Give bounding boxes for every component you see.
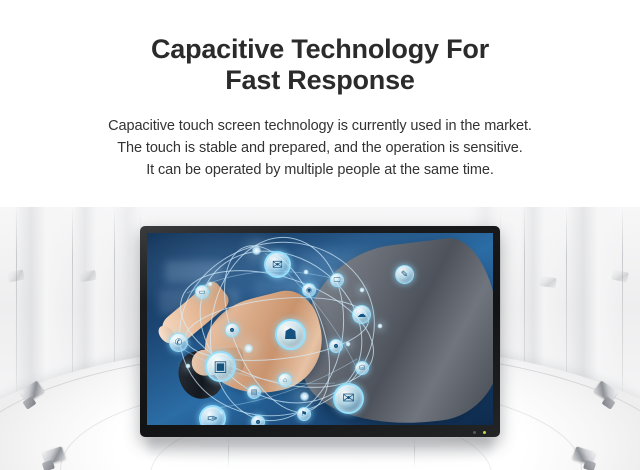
- user-left-glyph: ☻: [228, 327, 235, 334]
- home-mid-node-icon[interactable]: ⌂: [278, 373, 292, 387]
- text-section: Capacitive Technology For Fast Response …: [0, 0, 640, 207]
- user-right-node-icon[interactable]: ☻: [329, 339, 343, 353]
- phone-left-node-icon[interactable]: ✆: [169, 333, 188, 352]
- globe-small-glyph: ◉: [306, 287, 312, 294]
- chat-bottom-node-icon[interactable]: ✑: [199, 405, 226, 425]
- spotlight-icon: [539, 276, 556, 288]
- flag-bottom-glyph: ⚑: [301, 411, 307, 418]
- monitor-left-glyph: ▭: [199, 289, 206, 296]
- home-mid-glyph: ⌂: [283, 377, 287, 384]
- description-text: Capacitive touch screen technology is cu…: [0, 96, 640, 181]
- mail-top-node-icon[interactable]: ✉: [264, 251, 291, 278]
- description-line-1: Capacitive touch screen technology is cu…: [0, 115, 640, 137]
- mail-front-glyph: ✉: [342, 391, 355, 406]
- pencil-far-glyph: ✎: [401, 270, 409, 279]
- person-center-node-icon[interactable]: ☗: [275, 319, 306, 350]
- light-spark: [207, 281, 213, 287]
- user-bottom-node-icon[interactable]: ☻: [251, 415, 265, 425]
- light-spark: [345, 341, 351, 347]
- product-feature-banner: Capacitive Technology For Fast Response …: [0, 0, 640, 470]
- screen-right-node-icon[interactable]: 🖵: [330, 273, 344, 287]
- user-bottom-glyph: ☻: [254, 419, 261, 426]
- backdrop-panel-edge: [16, 207, 17, 403]
- lock-right-node-icon[interactable]: ⛁: [355, 361, 369, 375]
- cloud-right-node-icon[interactable]: ☁: [352, 305, 371, 324]
- screen-right-glyph: 🖵: [334, 277, 341, 284]
- network-orbit-lines: [147, 233, 493, 425]
- chat-big-left-node-icon[interactable]: ▣: [205, 351, 236, 382]
- phone-left-glyph: ✆: [175, 338, 183, 347]
- pencil-far-node-icon[interactable]: ✎: [395, 265, 414, 284]
- cloud-right-glyph: ☁: [357, 310, 366, 319]
- light-spark: [377, 323, 383, 329]
- light-spark: [251, 245, 262, 256]
- hero-product-photo: ✉🖵✎◉▭☁☗☻✆▣☻⛁⌂▤✉✑☻⚑: [0, 207, 640, 470]
- description-line-3: It can be operated by multiple people at…: [0, 159, 640, 181]
- person-center-glyph: ☗: [284, 327, 297, 342]
- monitor-left-node-icon[interactable]: ▭: [195, 285, 209, 299]
- light-spark: [359, 287, 365, 293]
- light-spark: [299, 391, 310, 402]
- description-line-2: The touch is stable and prepared, and th…: [0, 137, 640, 159]
- page-title: Capacitive Technology For Fast Response: [0, 0, 640, 96]
- backdrop-panel-edge: [622, 207, 623, 403]
- light-spark: [243, 343, 254, 354]
- mail-top-glyph: ✉: [272, 258, 283, 271]
- note-mid-node-icon[interactable]: ▤: [247, 385, 261, 399]
- flag-bottom-node-icon[interactable]: ⚑: [297, 407, 311, 421]
- monitor-bezel: ✉🖵✎◉▭☁☗☻✆▣☻⛁⌂▤✉✑☻⚑: [140, 226, 500, 437]
- monitor-screen[interactable]: ✉🖵✎◉▭☁☗☻✆▣☻⛁⌂▤✉✑☻⚑: [147, 233, 493, 425]
- capacitive-touch-display[interactable]: ✉🖵✎◉▭☁☗☻✆▣☻⛁⌂▤✉✑☻⚑: [140, 226, 500, 437]
- light-spark: [303, 269, 309, 275]
- sensor-led: [473, 431, 476, 434]
- headline-line-1: Capacitive Technology For: [0, 34, 640, 65]
- mail-front-node-icon[interactable]: ✉: [333, 383, 364, 414]
- user-left-node-icon[interactable]: ☻: [225, 323, 239, 337]
- globe-small-node-icon[interactable]: ◉: [302, 283, 316, 297]
- lock-right-glyph: ⛁: [359, 365, 365, 372]
- headline-line-2: Fast Response: [0, 65, 640, 96]
- note-mid-glyph: ▤: [251, 389, 258, 396]
- chat-big-left-glyph: ▣: [213, 359, 227, 374]
- light-spark: [185, 363, 191, 369]
- user-right-glyph: ☻: [332, 343, 339, 350]
- power-led: [483, 431, 486, 434]
- chat-bottom-glyph: ✑: [207, 412, 218, 425]
